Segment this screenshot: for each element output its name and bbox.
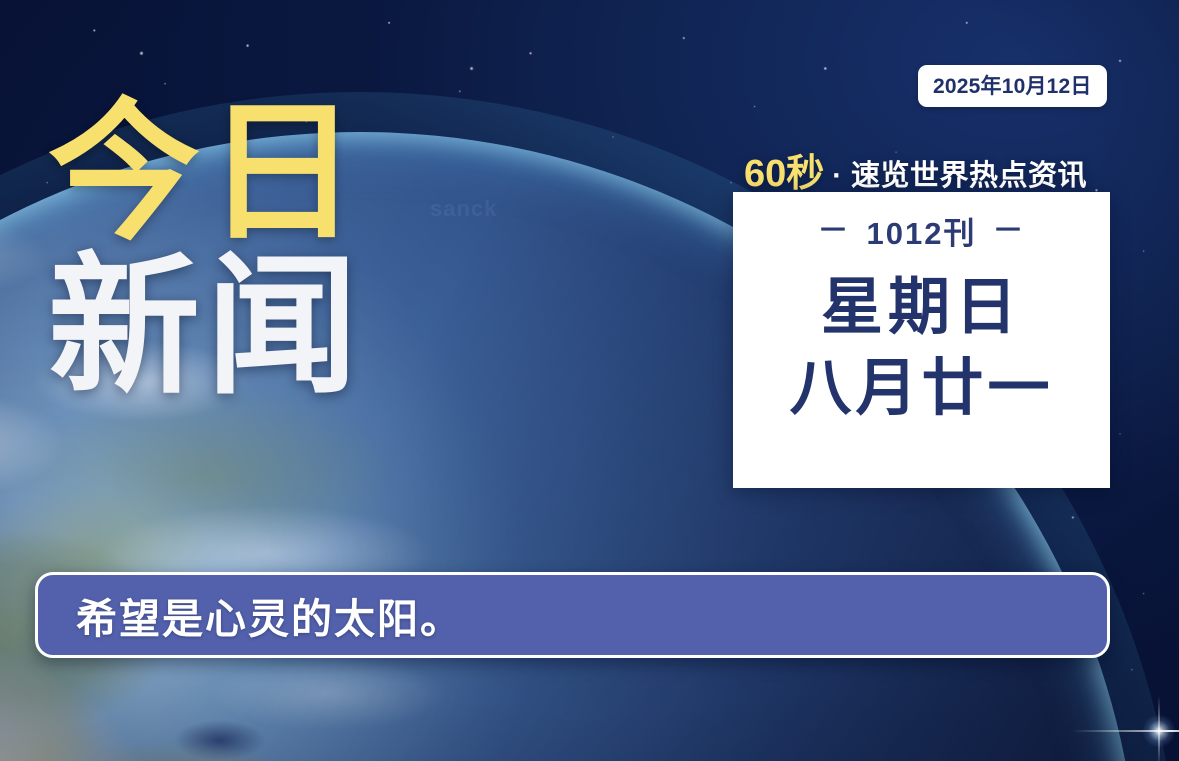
issue-dash-right: － (992, 215, 1025, 246)
date-badge: 2025年10月12日 (918, 65, 1107, 107)
brand-title-line-2: 新闻 (48, 254, 364, 400)
tagline-rest: · 速览世界热点资讯 (832, 152, 1087, 194)
issue-number-row: － 1012刊 － (818, 208, 1026, 253)
poster-canvas: sanck 今日 新闻 2025年10月12日 60秒 · 速览世界热点资讯 －… (0, 0, 1179, 761)
issue-info-card: － 1012刊 － 星期日 八月廿一 (733, 192, 1110, 488)
brand-title: 今日 新闻 (48, 100, 364, 400)
poster-content: 今日 新闻 2025年10月12日 60秒 · 速览世界热点资讯 － 1012刊… (0, 0, 1179, 761)
brand-title-line-1: 今日 (48, 100, 364, 246)
tagline: 60秒 · 速览世界热点资讯 (744, 142, 1087, 197)
issue-number: 1012刊 (867, 208, 977, 253)
quote-text: 希望是心灵的太阳。 (76, 585, 463, 645)
tagline-highlight: 60秒 (744, 142, 824, 197)
lunar-date-label: 八月廿一 (789, 356, 1053, 421)
quote-bar: 希望是心灵的太阳。 (35, 572, 1110, 658)
issue-dash-left: － (818, 215, 851, 246)
weekday-label: 星期日 (821, 275, 1022, 340)
